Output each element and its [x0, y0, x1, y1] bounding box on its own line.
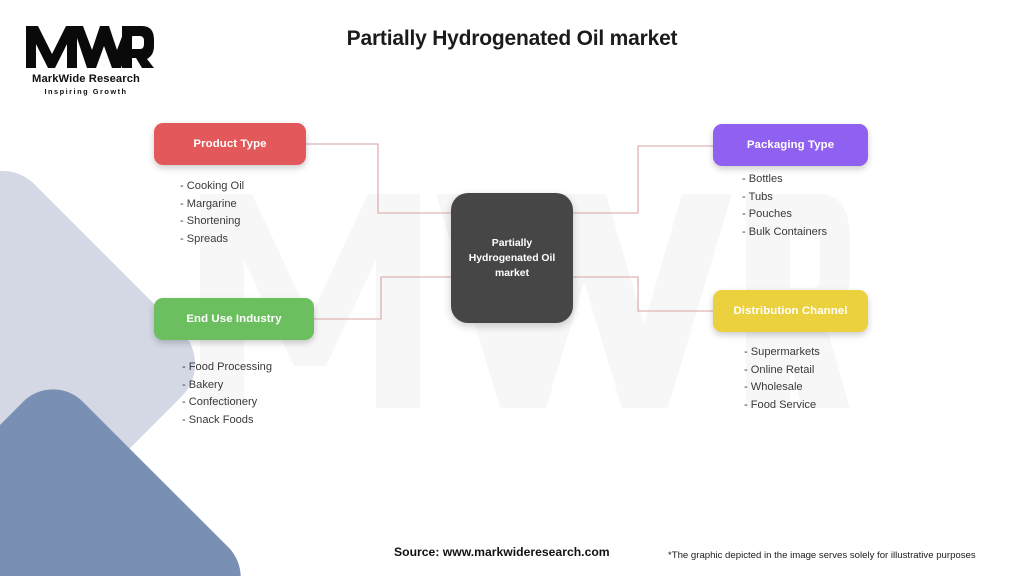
segment-items-product-type: - Cooking Oil - Margarine - Shortening -… — [180, 178, 244, 248]
connector-end-use-industry — [314, 277, 452, 319]
segment-pill-product-type[interactable]: Product Type — [154, 123, 306, 165]
segment-pill-distribution-channel[interactable]: Distribution Channel — [713, 290, 868, 332]
segment-items-distribution-channel: - Supermarkets - Online Retail - Wholesa… — [744, 344, 820, 414]
segment-label-distribution-channel: Distribution Channel — [733, 305, 847, 317]
list-item: - Wholesale — [744, 379, 820, 397]
segment-pill-end-use-industry[interactable]: End Use Industry — [154, 298, 314, 340]
segment-pill-packaging-type[interactable]: Packaging Type — [713, 124, 868, 166]
list-item: - Bakery — [182, 377, 272, 395]
list-item: - Margarine — [180, 196, 244, 214]
center-line-2: Hydrogenated Oil — [469, 253, 556, 264]
center-node-label: Partially Hydrogenated Oil market — [460, 236, 564, 281]
list-item: - Food Processing — [182, 359, 272, 377]
segment-label-end-use-industry: End Use Industry — [186, 313, 281, 325]
list-item: - Bulk Containers — [742, 224, 827, 242]
list-item: - Cooking Oil — [180, 178, 244, 196]
segment-label-product-type: Product Type — [193, 138, 266, 150]
connector-distribution-channel — [572, 277, 713, 311]
center-line-3: market — [495, 268, 529, 279]
disclaimer-text: *The graphic depicted in the image serve… — [668, 550, 976, 561]
list-item: - Pouches — [742, 206, 827, 224]
center-node: Partially Hydrogenated Oil market — [451, 193, 573, 323]
connector-packaging-type — [572, 146, 713, 213]
list-item: - Tubs — [742, 189, 827, 207]
list-item: - Food Service — [744, 397, 820, 415]
segment-label-packaging-type: Packaging Type — [747, 139, 834, 151]
list-item: - Spreads — [180, 231, 244, 249]
infographic-canvas: MarkWide Research Inspiring Growth Parti… — [0, 0, 1024, 576]
segment-items-end-use-industry: - Food Processing - Bakery - Confectione… — [182, 359, 272, 429]
list-item: - Bottles — [742, 171, 827, 189]
list-item: - Supermarkets — [744, 344, 820, 362]
list-item: - Shortening — [180, 213, 244, 231]
source-text: Source: www.markwideresearch.com — [394, 545, 610, 559]
list-item: - Online Retail — [744, 362, 820, 380]
center-line-1: Partially — [492, 238, 532, 249]
list-item: - Snack Foods — [182, 412, 272, 430]
connector-product-type — [306, 144, 452, 213]
list-item: - Confectionery — [182, 394, 272, 412]
segment-items-packaging-type: - Bottles - Tubs - Pouches - Bulk Contai… — [742, 171, 827, 241]
